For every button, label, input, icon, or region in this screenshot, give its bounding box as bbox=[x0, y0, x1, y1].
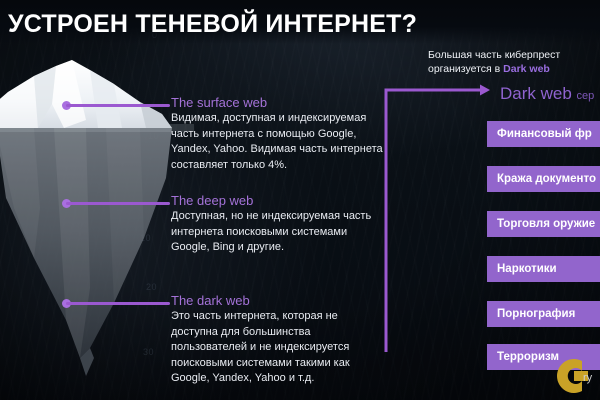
service-item-drugs[interactable]: Наркотики bbox=[487, 256, 600, 282]
right-intro-line1: Большая часть киберпрест bbox=[428, 49, 560, 61]
leader-line-deep bbox=[66, 202, 170, 205]
service-item-weapons-trade[interactable]: Торговля оружие bbox=[487, 211, 600, 237]
service-label: Торговля оружие bbox=[497, 218, 595, 230]
layer-heading-dark: The dark web bbox=[171, 293, 386, 308]
services-heading-suffix: сер bbox=[577, 90, 595, 102]
bracket-connector bbox=[380, 84, 500, 369]
service-label: Порнография bbox=[497, 308, 575, 320]
layer-body-dark: Это часть интернета, которая не доступна… bbox=[171, 309, 386, 387]
services-heading: Dark web сер bbox=[500, 84, 594, 104]
watermark-logo-icon bbox=[548, 352, 600, 400]
layer-body-surface: Видимая, доступная и индексируемая часть… bbox=[171, 111, 386, 173]
layer-block-surface: The surface web Видимая, доступная и инд… bbox=[171, 95, 386, 173]
service-label: Финансовый фр bbox=[497, 128, 592, 140]
iceberg-submerged bbox=[0, 128, 172, 376]
service-item-document-theft[interactable]: Кража документо bbox=[487, 166, 600, 192]
page-title: УСТРОЕН ТЕНЕВОЙ ИНТЕРНЕТ? bbox=[8, 10, 417, 39]
services-heading-main: Dark web bbox=[500, 84, 572, 103]
service-item-financial-fraud[interactable]: Финансовый фр bbox=[487, 121, 600, 147]
service-item-pornography[interactable]: Порнография bbox=[487, 301, 600, 327]
right-intro-text: Большая часть киберпрест организуется в … bbox=[428, 48, 600, 76]
iceberg-tip bbox=[0, 60, 172, 128]
service-label: Кража документо bbox=[497, 173, 596, 185]
leader-line-dark bbox=[66, 302, 170, 305]
slide-root: 0 10 10 20 30 УСТРОЕН ТЕНЕВОЙ ИНТЕРНЕТ? bbox=[0, 0, 600, 400]
layer-block-dark: The dark web Это часть интернета, котора… bbox=[171, 293, 386, 387]
layer-heading-surface: The surface web bbox=[171, 95, 386, 110]
right-intro-highlight: Dark web bbox=[503, 63, 550, 75]
layer-heading-deep: The deep web bbox=[171, 193, 386, 208]
layer-block-deep: The deep web Доступная, но не индексируе… bbox=[171, 193, 386, 256]
service-label: Наркотики bbox=[497, 263, 557, 275]
layer-body-deep: Доступная, но не индексируемая часть инт… bbox=[171, 209, 386, 256]
right-intro-line2: организуется в bbox=[428, 63, 503, 75]
iceberg-illustration bbox=[0, 58, 194, 388]
leader-line-surface bbox=[66, 104, 170, 107]
watermark-text: ry bbox=[583, 372, 592, 384]
